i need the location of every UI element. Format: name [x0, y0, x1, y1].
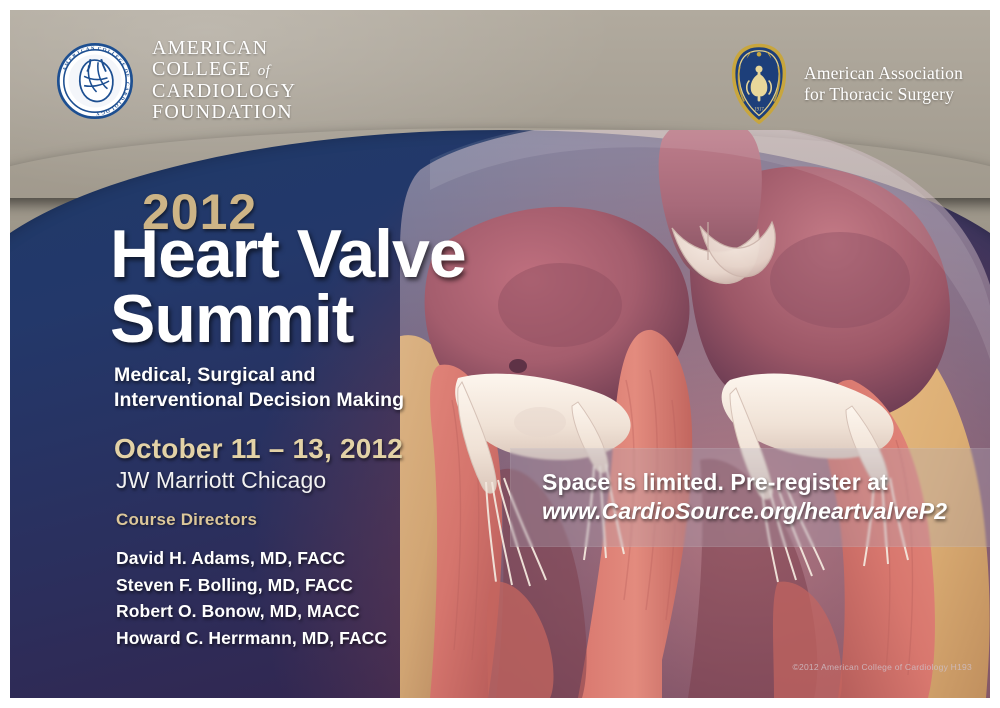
event-venue: JW Marriott Chicago — [116, 467, 326, 494]
registration-url[interactable]: www.CardioSource.org/heartvalveP2 — [542, 497, 990, 526]
registration-callout: Space is limited. Pre-register at www.Ca… — [510, 448, 990, 547]
course-director: Howard C. Herrmann, MD, FACC — [116, 625, 387, 652]
course-directors-heading: Course Directors — [116, 510, 257, 530]
registration-message: Space is limited. Pre-register at — [542, 468, 990, 497]
event-dates: October 11 – 13, 2012 — [114, 433, 403, 465]
course-director: David H. Adams, MD, FACC — [116, 545, 387, 572]
poster-root: A M E R I C A N C O L L E G E O F — [0, 0, 1000, 708]
event-title-line1: Heart Valve — [110, 220, 466, 288]
event-subtitle: Medical, Surgical and Interventional Dec… — [114, 363, 404, 413]
course-director: Steven F. Bolling, MD, FACC — [116, 572, 387, 599]
event-title-line2: Summit — [110, 285, 353, 353]
poster-frame: A M E R I C A N C O L L E G E O F — [10, 10, 990, 698]
event-subtitle-line2: Interventional Decision Making — [114, 388, 404, 413]
event-subtitle-line1: Medical, Surgical and — [114, 363, 404, 388]
poster-content: 2012 Heart Valve Summit Medical, Surgica… — [10, 10, 990, 698]
course-directors-list: David H. Adams, MD, FACC Steven F. Bolli… — [116, 545, 387, 651]
copyright-notice: ©2012 American College of Cardiology H19… — [792, 662, 972, 672]
course-director: Robert O. Bonow, MD, MACC — [116, 598, 387, 625]
